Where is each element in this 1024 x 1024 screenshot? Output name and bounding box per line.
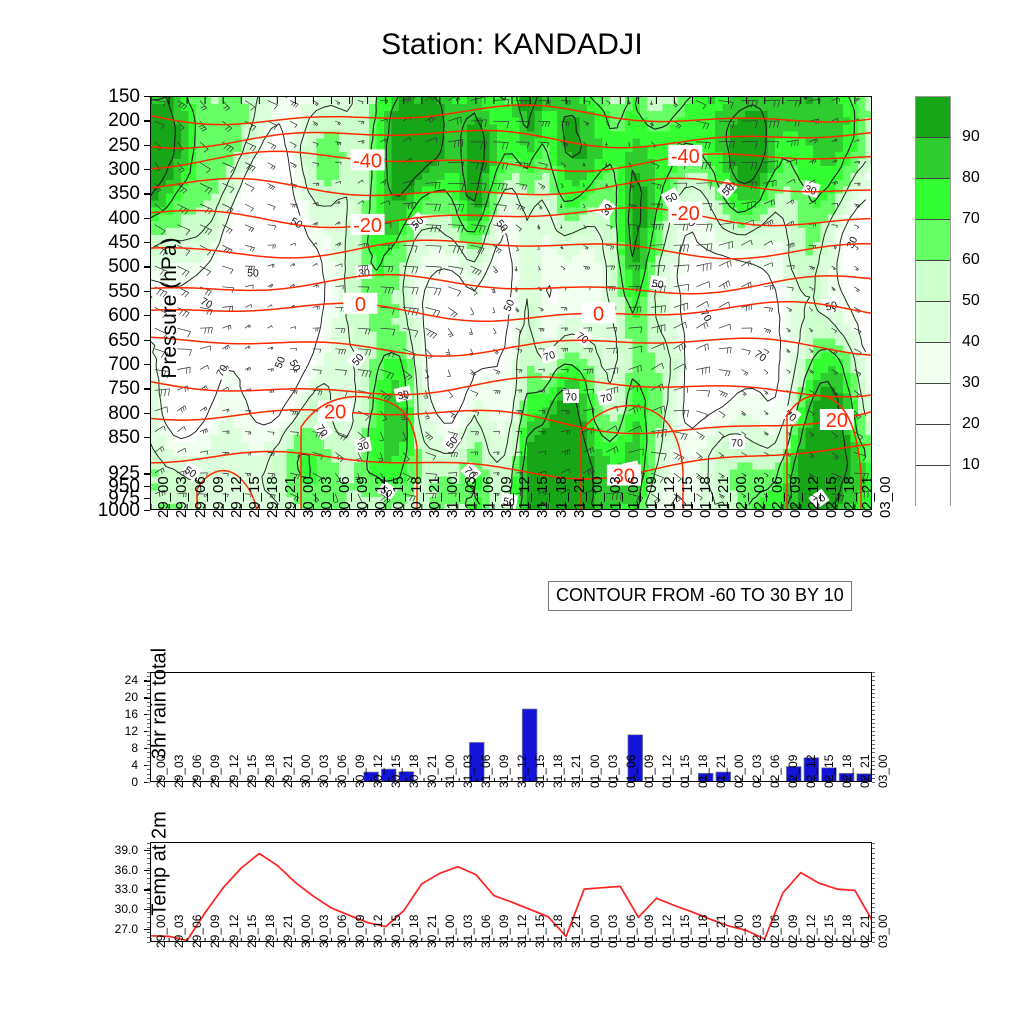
temp-minor-tick-right (872, 932, 875, 933)
colorbar-tick-label: 50 (962, 292, 980, 310)
time-tick-label-main: 29_06 (192, 476, 209, 518)
time-tick-label-temp: 31_21 (569, 915, 583, 948)
temp-minor-tick-right (872, 893, 875, 894)
time-tick-label-temp: 31_18 (551, 915, 565, 948)
colorbar-tick-label: 60 (962, 251, 980, 269)
time-tick-label-rain: 02_06 (768, 755, 782, 788)
rain-minor-tick (147, 710, 150, 711)
time-tick-label-temp: 29_03 (172, 915, 186, 948)
time-tick-label-temp: 31_12 (515, 915, 529, 948)
time-tick-label-rain: 01_18 (696, 755, 710, 788)
time-tick-label-rain: 01_21 (714, 755, 728, 788)
time-tick-label-main: 30_21 (426, 476, 443, 518)
colorbar-band (916, 384, 950, 425)
time-tick-label-main: 31_03 (462, 476, 479, 518)
temp-minor-tick-right (872, 858, 875, 859)
pressure-tick-label: 300 (0, 160, 140, 179)
temp-minor-tick-right (872, 848, 875, 849)
pressure-tick-label: 450 (0, 233, 140, 252)
colorbar-band (916, 138, 950, 179)
time-tick-label-temp: 30_12 (371, 915, 385, 948)
time-tick-label-main: 31_12 (516, 476, 533, 518)
rain-tick-label: 16 (92, 708, 138, 720)
colorbar-tick-label: 90 (962, 128, 980, 146)
pressure-tick-label: 500 (0, 257, 140, 276)
time-tick-label-temp: 02_15 (822, 915, 836, 948)
colorbar-tick-label: 40 (962, 333, 980, 351)
temp-minor-tick (147, 917, 150, 918)
pressure-tick (144, 169, 150, 170)
temp-minor-tick (147, 898, 150, 899)
temp-minor-tick-right (872, 937, 875, 938)
time-tick-label-rain: 02_00 (732, 755, 746, 788)
temp-minor-tick-right (872, 903, 875, 904)
cross-section-panel: 5030507050305070505030507070705050705070… (150, 96, 872, 510)
temp-minor-tick-right (872, 888, 875, 889)
pressure-tick (144, 413, 150, 414)
pressure-tick-label: 700 (0, 355, 140, 374)
time-tick-label-rain: 31_18 (551, 755, 565, 788)
temp-minor-tick (147, 883, 150, 884)
temp-minor-tick-right (872, 853, 875, 854)
time-tick-label-temp: 02_06 (768, 915, 782, 948)
colorbar (915, 96, 951, 506)
temp-minor-tick-right (872, 942, 875, 943)
time-tick-label-temp: 29_12 (227, 915, 241, 948)
temp-minor-tick (147, 922, 150, 923)
temp-minor-tick (147, 937, 150, 938)
rain-tick-label: 24 (92, 674, 138, 686)
rain-minor-tick (147, 680, 150, 681)
temp-minor-tick-right (872, 883, 875, 884)
time-tick-label-rain: 02_18 (840, 755, 854, 788)
temp-minor-tick (147, 888, 150, 889)
time-tick-label-main: 01_15 (679, 476, 696, 518)
pressure-tick (144, 315, 150, 316)
colorbar-band (916, 97, 950, 138)
time-tick-label-temp: 03_00 (876, 915, 890, 948)
temp-minor-tick (147, 863, 150, 864)
colorbar-tick-label: 80 (962, 169, 980, 187)
time-tick-label-main: 29_03 (173, 476, 190, 518)
time-tick-label-temp: 30_18 (407, 915, 421, 948)
pressure-tick-label: 600 (0, 306, 140, 325)
time-tick-label-rain: 01_03 (606, 755, 620, 788)
time-tick-label-main: 01_03 (607, 476, 624, 518)
rain-minor-tick-right (872, 685, 875, 686)
time-tick-label-rain: 02_15 (822, 755, 836, 788)
time-tick-label-temp: 31_09 (497, 915, 511, 948)
time-tick-label-temp: 30_00 (299, 915, 313, 948)
rain-minor-tick-right (872, 719, 875, 720)
colorbar-band (916, 343, 950, 384)
colorbar-band (916, 466, 950, 507)
rain-tick-label: 8 (92, 742, 138, 754)
time-tick-label-rain: 02_12 (804, 755, 818, 788)
time-tick-label-rain: 31_06 (479, 755, 493, 788)
time-tick-label-main: 02_06 (769, 476, 786, 518)
time-tick-label-temp: 30_09 (353, 915, 367, 948)
time-tick-label-temp: 02_18 (840, 915, 854, 948)
pressure-axis-title: Pressure (hPa) (158, 138, 182, 478)
temp-tick (144, 870, 150, 871)
colorbar-band (916, 220, 950, 261)
time-tick-label-rain: 30_18 (407, 755, 421, 788)
time-tick-label-temp: 01_03 (606, 915, 620, 948)
temp-tick (144, 850, 150, 851)
pressure-tick-label: 150 (0, 87, 140, 106)
rain-minor-tick-right (872, 748, 875, 749)
time-tick-label-main: 29_00 (155, 476, 172, 518)
temp-minor-tick (147, 932, 150, 933)
time-tick-label-rain: 29_18 (263, 755, 277, 788)
pressure-tick (144, 364, 150, 365)
pressure-tick (144, 340, 150, 341)
temp-minor-tick (147, 907, 150, 908)
time-tick-label-temp: 30_03 (317, 915, 331, 948)
time-tick-label-main: 29_18 (264, 476, 281, 518)
time-tick-label-main: 31_18 (553, 476, 570, 518)
pressure-tick (144, 291, 150, 292)
rain-minor-tick-right (872, 714, 875, 715)
time-tick-label-temp: 29_09 (208, 915, 222, 948)
rain-minor-tick (147, 706, 150, 707)
temp-tick (144, 909, 150, 910)
temp-tick (144, 889, 150, 890)
rain-minor-tick-right (872, 731, 875, 732)
rain-minor-tick-right (872, 693, 875, 694)
pressure-tick (144, 498, 150, 499)
cross-section-svg: 5030507050305070505030507070705050705070… (151, 97, 872, 510)
time-tick-label-main: 29_12 (228, 476, 245, 518)
rain-minor-tick (147, 693, 150, 694)
time-tick-label-main: 01_09 (643, 476, 660, 518)
pressure-tick-label: 550 (0, 282, 140, 301)
colorbar-band (916, 425, 950, 466)
temp-tick-label: 27.0 (86, 923, 138, 935)
rain-minor-tick (147, 676, 150, 677)
colorbar-tick-label: 30 (962, 374, 980, 392)
pressure-tick (144, 388, 150, 389)
time-tick-label-main: 31_00 (444, 476, 461, 518)
temp-minor-tick-right (872, 912, 875, 913)
temp-minor-tick (147, 843, 150, 844)
pressure-tick-label: 250 (0, 136, 140, 155)
rain-minor-tick-right (872, 765, 875, 766)
time-tick-label-rain: 29_15 (245, 755, 259, 788)
rain-minor-tick-right (872, 727, 875, 728)
time-tick-label-main: 02_18 (841, 476, 858, 518)
pressure-tick-label: 200 (0, 111, 140, 130)
time-tick-label-main: 30_03 (318, 476, 335, 518)
time-tick-label-rain: 31_15 (533, 755, 547, 788)
time-tick-label-rain: 01_06 (624, 755, 638, 788)
time-tick-label-main: 02_09 (787, 476, 804, 518)
temp-minor-tick (147, 893, 150, 894)
time-tick-label-rain: 30_15 (389, 755, 403, 788)
rain-minor-tick-right (872, 740, 875, 741)
rain-minor-tick-right (872, 778, 875, 779)
time-tick-label-temp: 01_00 (588, 915, 602, 948)
temp-minor-tick-right (872, 843, 875, 844)
rain-minor-tick-right (872, 769, 875, 770)
time-tick-label-temp: 02_00 (732, 915, 746, 948)
time-tick-label-temp: 29_06 (190, 915, 204, 948)
rain-minor-tick-right (872, 774, 875, 775)
pressure-tick-label: 750 (0, 379, 140, 398)
time-tick-label-temp: 30_15 (389, 915, 403, 948)
pressure-tick (144, 145, 150, 146)
temp-minor-tick-right (872, 878, 875, 879)
rain-minor-tick (147, 685, 150, 686)
time-tick-label-rain: 01_15 (678, 755, 692, 788)
rain-minor-tick-right (872, 680, 875, 681)
pressure-tick-label: 350 (0, 184, 140, 203)
time-tick-label-main: 02_03 (751, 476, 768, 518)
time-tick-label-temp: 31_15 (533, 915, 547, 948)
colorbar-tick-label: 70 (962, 210, 980, 228)
temp-minor-tick (147, 903, 150, 904)
time-tick-label-rain: 30_12 (371, 755, 385, 788)
contour-caption: CONTOUR FROM -60 TO 30 BY 10 (548, 581, 852, 611)
rain-minor-tick-right (872, 676, 875, 677)
time-tick-label-rain: 29_03 (172, 755, 186, 788)
time-tick-label-temp: 01_18 (696, 915, 710, 948)
pressure-tick (144, 218, 150, 219)
pressure-tick-label: 850 (0, 428, 140, 447)
temp-minor-tick (147, 868, 150, 869)
time-tick-label-main: 03_00 (877, 476, 894, 518)
cross-section-plot-area: 5030507050305070505030507070705050705070… (150, 96, 872, 510)
temp-tick (144, 929, 150, 930)
time-tick-label-main: 02_12 (805, 476, 822, 518)
pressure-tick (144, 266, 150, 267)
time-tick-label-main: 31_06 (480, 476, 497, 518)
rain-minor-tick-right (872, 702, 875, 703)
time-tick-label-main: 31_09 (498, 476, 515, 518)
pressure-tick (144, 510, 150, 511)
pressure-tick-label: 800 (0, 404, 140, 423)
temp-minor-tick (147, 853, 150, 854)
time-tick-label-main: 30_12 (372, 476, 389, 518)
time-tick-label-rain: 29_06 (190, 755, 204, 788)
time-tick-label-temp: 01_06 (624, 915, 638, 948)
pressure-tick (144, 193, 150, 194)
pressure-tick (144, 473, 150, 474)
colorbar-band (916, 302, 950, 343)
time-tick-label-rain: 30_09 (353, 755, 367, 788)
colorbar-tick-label: 10 (962, 456, 980, 474)
rain-minor-tick-right (872, 697, 875, 698)
pressure-tick-label: 1000 (0, 501, 140, 520)
temp-minor-tick-right (872, 873, 875, 874)
time-tick-label-rain: 02_21 (858, 755, 872, 788)
time-tick-label-main: 02_00 (733, 476, 750, 518)
time-tick-label-rain: 01_00 (588, 755, 602, 788)
rain-tick-label: 0 (92, 776, 138, 788)
time-tick-label-main: 31_15 (534, 476, 551, 518)
time-tick-label-main: 31_21 (571, 476, 588, 518)
temp-minor-tick-right (872, 922, 875, 923)
temp-minor-tick (147, 927, 150, 928)
time-tick-label-main: 01_06 (625, 476, 642, 518)
temp-minor-tick (147, 942, 150, 943)
time-tick-label-temp: 01_21 (714, 915, 728, 948)
time-tick-label-rain: 30_03 (317, 755, 331, 788)
rain-minor-tick-right (872, 757, 875, 758)
time-tick-label-main: 29_15 (246, 476, 263, 518)
pressure-tick-label: 650 (0, 331, 140, 350)
time-tick-label-temp: 29_18 (263, 915, 277, 948)
figure-root: Station: KANDADJI 5030507050305070505030… (0, 0, 1024, 1024)
time-tick-label-temp: 31_03 (461, 915, 475, 948)
time-tick-label-rain: 01_12 (660, 755, 674, 788)
time-tick-label-main: 30_18 (408, 476, 425, 518)
time-tick-label-main: 30_09 (354, 476, 371, 518)
pressure-tick (144, 242, 150, 243)
time-tick-label-temp: 01_15 (678, 915, 692, 948)
time-tick-label-rain: 29_21 (281, 755, 295, 788)
time-tick-label-rain: 01_09 (642, 755, 656, 788)
temp-tick-label: 30.0 (86, 903, 138, 915)
pressure-tick (144, 120, 150, 121)
rain-minor-tick-right (872, 761, 875, 762)
time-tick-label-rain: 02_03 (750, 755, 764, 788)
rain-minor-tick-right (872, 752, 875, 753)
time-tick-label-temp: 02_12 (804, 915, 818, 948)
time-tick-label-main: 29_09 (210, 476, 227, 518)
rain-minor-tick (147, 672, 150, 673)
rain-minor-tick (147, 702, 150, 703)
temp-tick-label: 33.0 (86, 883, 138, 895)
time-tick-label-temp: 31_00 (443, 915, 457, 948)
temp-minor-tick (147, 878, 150, 879)
time-tick-label-rain: 31_03 (461, 755, 475, 788)
time-tick-label-rain: 31_09 (497, 755, 511, 788)
time-tick-label-main: 01_18 (697, 476, 714, 518)
pressure-tick-label: 400 (0, 209, 140, 228)
time-tick-label-rain: 31_00 (443, 755, 457, 788)
rain-tick-label: 4 (92, 759, 138, 771)
rain-minor-tick-right (872, 744, 875, 745)
pressure-tick (144, 437, 150, 438)
page-title: Station: KANDADJI (0, 28, 1024, 62)
temp-tick-label: 39.0 (86, 844, 138, 856)
time-tick-label-temp: 31_06 (479, 915, 493, 948)
rain-tick-label: 20 (92, 691, 138, 703)
colorbar-band (916, 179, 950, 220)
time-tick-label-main: 29_21 (282, 476, 299, 518)
colorbar-tick-label: 20 (962, 415, 980, 433)
time-tick-label-main: 01_21 (715, 476, 732, 518)
time-tick-label-main: 01_12 (661, 476, 678, 518)
temp-minor-tick (147, 848, 150, 849)
temp-minor-tick-right (872, 868, 875, 869)
time-tick-label-main: 02_21 (859, 476, 876, 518)
time-tick-label-temp: 29_21 (281, 915, 295, 948)
time-tick-label-rain: 03_00 (876, 755, 890, 788)
time-tick-label-rain: 30_21 (425, 755, 439, 788)
rain-minor-tick (147, 689, 150, 690)
time-tick-label-rain: 02_09 (786, 755, 800, 788)
time-tick-label-temp: 30_21 (425, 915, 439, 948)
time-tick-label-temp: 29_00 (154, 915, 168, 948)
time-tick-label-rain: 30_06 (335, 755, 349, 788)
pressure-tick (144, 96, 150, 97)
time-tick-label-main: 30_06 (336, 476, 353, 518)
time-tick-label-temp: 30_06 (335, 915, 349, 948)
time-tick-label-rain: 29_12 (227, 755, 241, 788)
temp-minor-tick (147, 858, 150, 859)
time-tick-label-temp: 29_15 (245, 915, 259, 948)
rain-minor-tick-right (872, 672, 875, 673)
time-tick-label-main: 01_00 (589, 476, 606, 518)
time-tick-label-temp: 01_09 (642, 915, 656, 948)
temp-tick-label: 36.0 (86, 864, 138, 876)
time-tick-label-rain: 29_09 (208, 755, 222, 788)
rain-minor-tick-right (872, 735, 875, 736)
time-tick-label-main: 30_00 (300, 476, 317, 518)
temp-minor-tick-right (872, 917, 875, 918)
time-tick-label-main: 30_15 (390, 476, 407, 518)
rain-minor-tick (147, 697, 150, 698)
temp-axis-title: Temp at 2m (149, 714, 172, 1014)
temp-minor-tick-right (872, 907, 875, 908)
time-tick-label-temp: 01_12 (660, 915, 674, 948)
temp-minor-tick (147, 873, 150, 874)
time-tick-label-rain: 31_21 (569, 755, 583, 788)
rain-minor-tick-right (872, 706, 875, 707)
temp-minor-tick-right (872, 863, 875, 864)
rain-minor-tick-right (872, 723, 875, 724)
rain-tick-label: 12 (92, 725, 138, 737)
colorbar-band (916, 261, 950, 302)
rain-minor-tick-right (872, 710, 875, 711)
time-tick-label-rain: 30_00 (299, 755, 313, 788)
time-tick-label-main: 02_15 (823, 476, 840, 518)
temp-minor-tick-right (872, 898, 875, 899)
pressure-tick (144, 486, 150, 487)
time-tick-label-temp: 02_03 (750, 915, 764, 948)
time-tick-label-temp: 02_09 (786, 915, 800, 948)
time-tick-label-rain: 31_12 (515, 755, 529, 788)
temp-minor-tick (147, 912, 150, 913)
rain-minor-tick-right (872, 782, 875, 783)
temp-minor-tick-right (872, 927, 875, 928)
time-tick-label-temp: 02_21 (858, 915, 872, 948)
rain-minor-tick-right (872, 689, 875, 690)
